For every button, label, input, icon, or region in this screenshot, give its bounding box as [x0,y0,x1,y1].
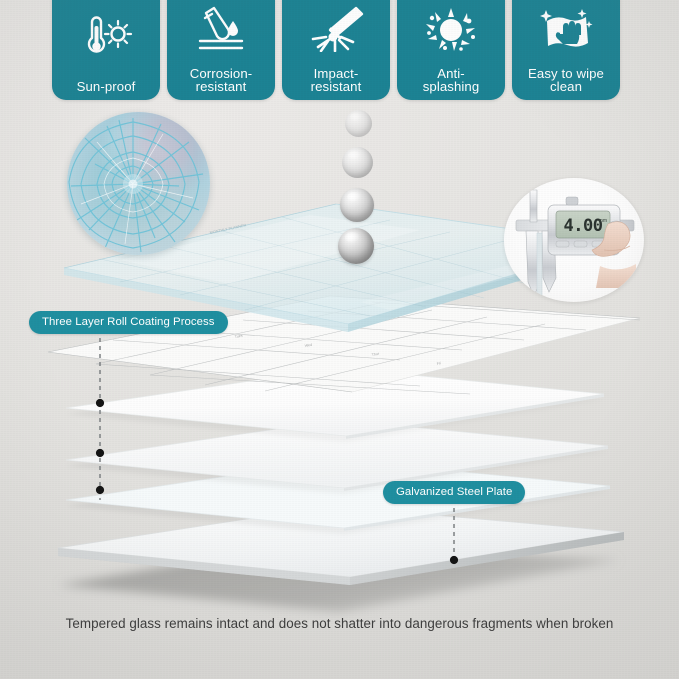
infographic-canvas: Mon Tues Wed Thur Fri [0,0,679,679]
leader-dot-coating-3 [96,486,104,494]
thermometer-sun-icon [52,0,160,80]
feature-badge-anti-splashing[interactable]: Anti- splashing [397,0,505,100]
digital-caliper-measurement: 4.00 mm [504,178,644,302]
caliper-button-zero[interactable] [556,241,569,247]
caliper-lock-screw[interactable] [566,197,578,205]
feature-label: Sun-proof [74,80,139,94]
leader-dot-steelplate-1 [450,556,458,564]
shatter-crack-pattern [67,112,210,255]
tempered-glass-shatter-closeup [67,112,210,255]
caliper-reading: 4.00 [564,216,603,236]
steel-ball-1 [345,110,372,137]
feature-badge-impact-resistant[interactable]: Impact- resistant [282,0,390,100]
leader-dot-coating-2 [96,449,104,457]
feature-label: Corrosion- resistant [187,67,256,94]
leader-dot-coating-1 [96,399,104,407]
feature-badge-easy-to-wipe-clean[interactable]: Easy to wipe clean [512,0,620,100]
feature-badge-corrosion-resistant[interactable]: Corrosion- resistant [167,0,275,100]
steel-ball-3 [340,188,374,222]
test-tube-drop-icon [167,0,275,67]
feature-label: Easy to wipe clean [525,67,607,94]
feature-label: Impact- resistant [308,67,365,94]
splash-icon [397,0,505,67]
feature-badge-sun-proof[interactable]: Sun-proof [52,0,160,100]
caliper-button-onoff[interactable] [574,241,587,247]
steel-ball-4 [338,228,374,264]
caliper-unit: mm [599,218,607,224]
steel-ball-2 [342,147,373,178]
bottom-caption: Tempered glass remains intact and does n… [0,616,679,631]
hammer-impact-icon [282,0,390,67]
feature-badge-row: Sun-proof Corrosion- resistant [0,0,679,104]
feature-label: Anti- splashing [420,67,483,94]
callout-three-layer-roll-coating[interactable]: Three Layer Roll Coating Process [29,311,228,334]
measured-glass-edge [537,233,542,295]
callout-galvanized-steel-plate[interactable]: Galvanized Steel Plate [383,481,525,504]
wipe-hand-sparkle-icon [512,0,620,67]
